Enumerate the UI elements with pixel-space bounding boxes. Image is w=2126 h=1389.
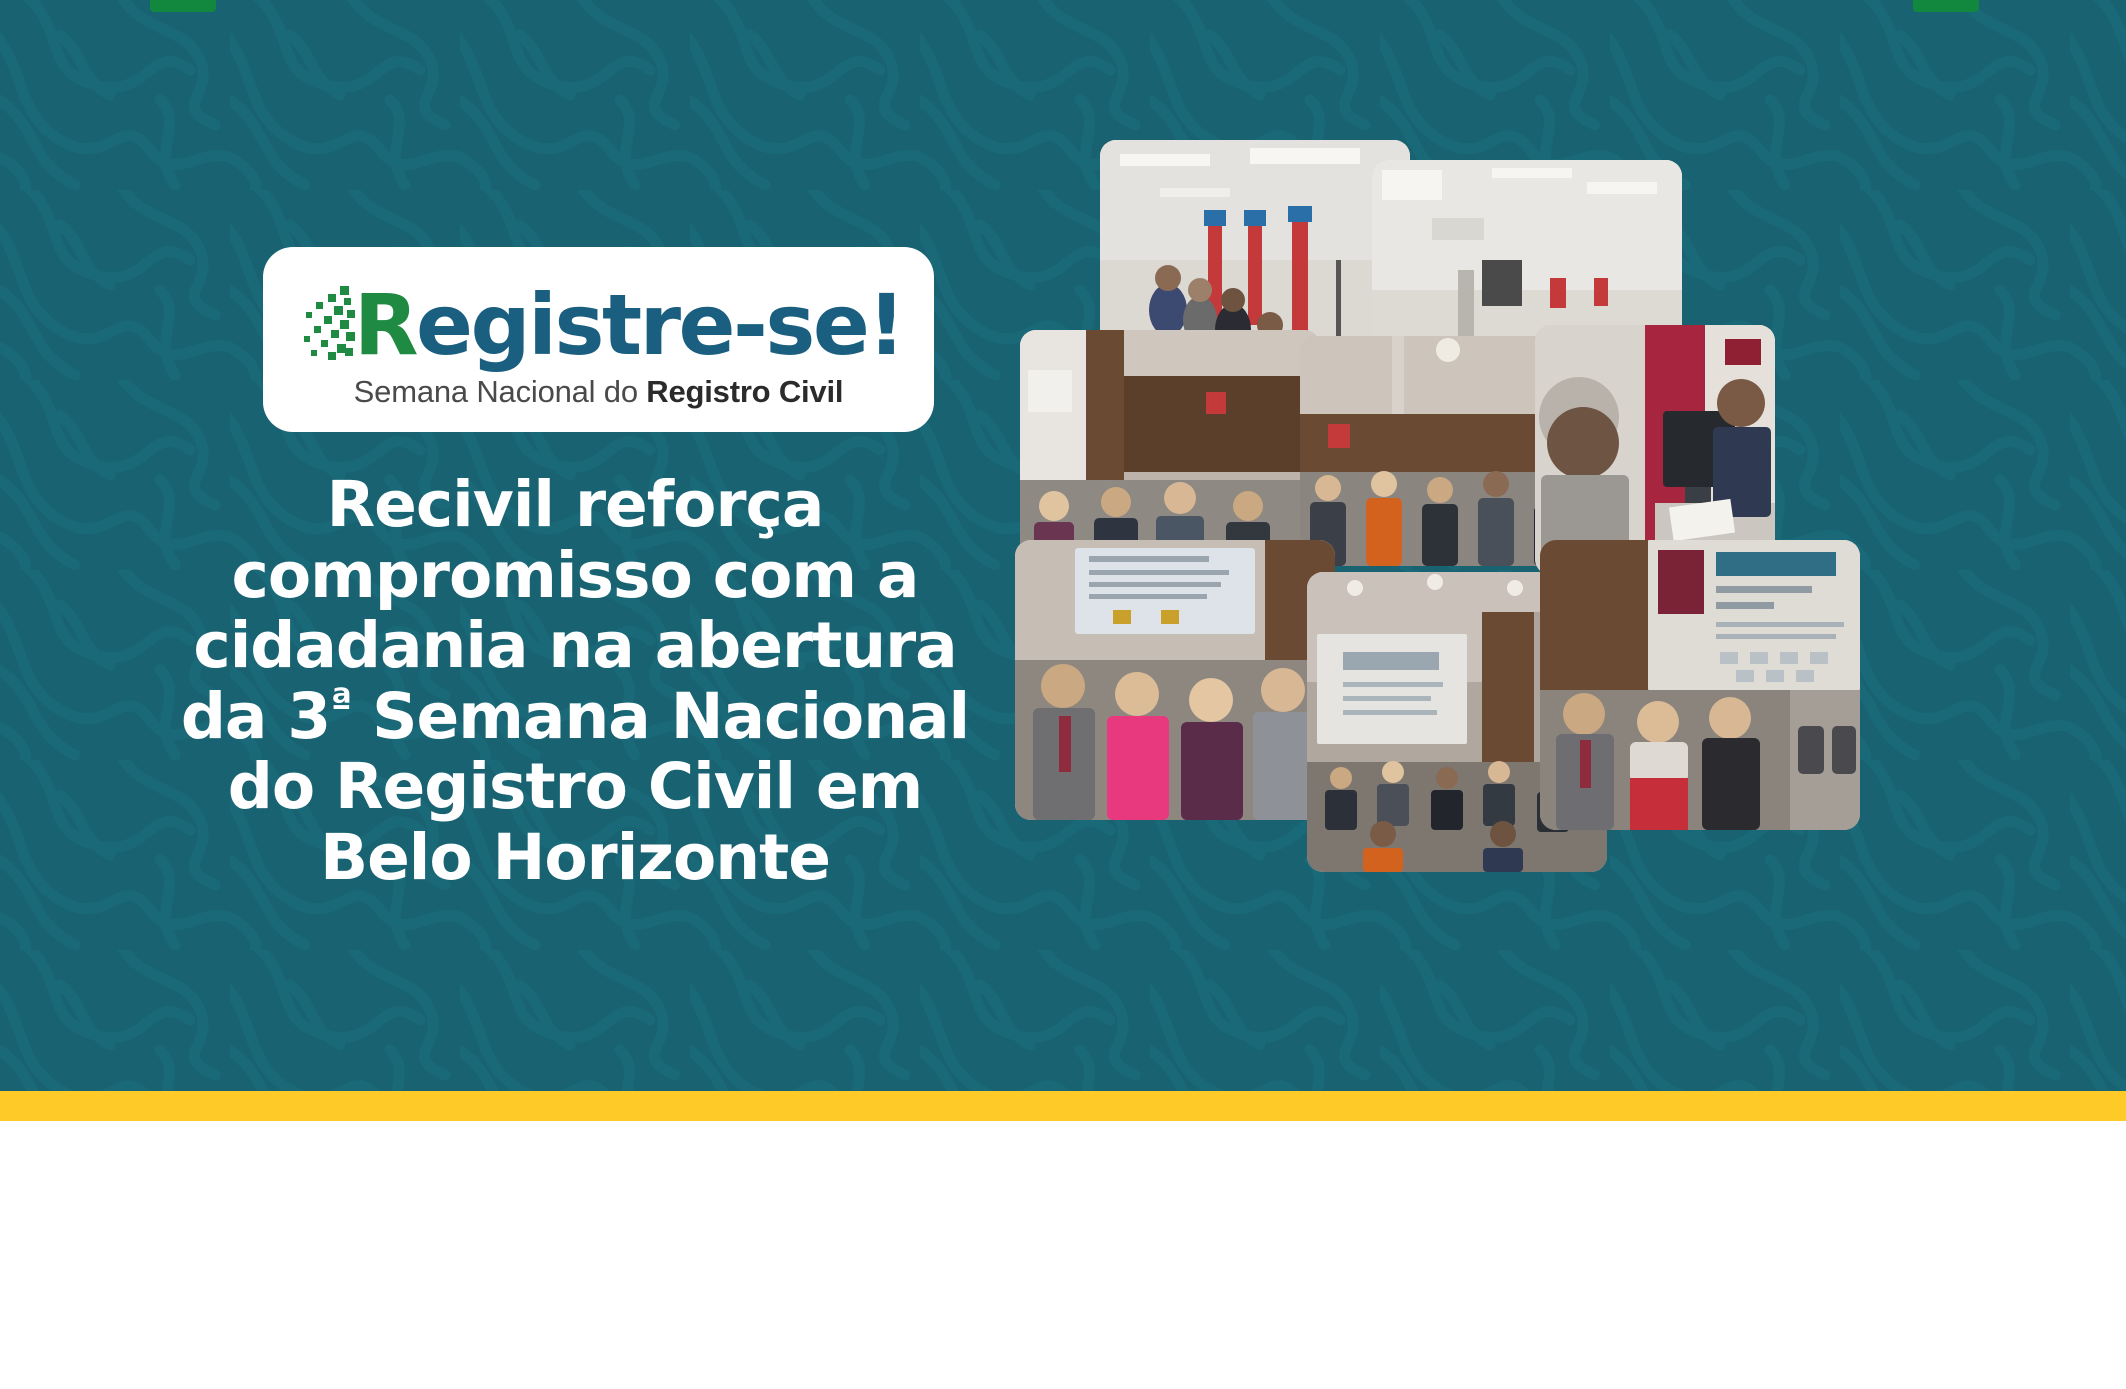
headline-line-2: compromisso com a bbox=[232, 539, 919, 612]
collage-photo-foto-oficial-banner bbox=[1540, 540, 1860, 830]
footer-logos-bar: APOIO: REALIZAÇÃO: RECIVIL SINDICATO DOS… bbox=[0, 1121, 2126, 1389]
headline-line-1: Recivil reforça bbox=[327, 468, 824, 541]
green-tab-left bbox=[150, 0, 216, 12]
photo-collage bbox=[1100, 140, 2000, 1000]
green-tab-right bbox=[1913, 0, 1979, 12]
logo-letter-r: R bbox=[354, 276, 416, 374]
headline-line-4-post: Semana Nacional bbox=[351, 680, 969, 753]
headline-line-3: cidadania na abertura bbox=[193, 609, 956, 682]
pixel-dissolve-icon bbox=[300, 282, 360, 362]
headline-line-6: Belo Horizonte bbox=[320, 821, 830, 894]
hero-banner: Registre-se! Semana Nacional do Registro… bbox=[0, 0, 2126, 1091]
logo-subtitle-light: Semana Nacional do bbox=[354, 374, 647, 409]
collage-photo-atendimento-balcao bbox=[1535, 325, 1775, 575]
collage-photo-grupo-participantes bbox=[1015, 540, 1335, 820]
headline-line-5: do Registro Civil em bbox=[228, 750, 923, 823]
headline-line-4-pre: da 3 bbox=[181, 680, 330, 753]
headline-ordinal: ª bbox=[330, 681, 351, 726]
logo-wordmark-rest: egistre-se! bbox=[416, 276, 903, 374]
logo-subtitle: Semana Nacional do Registro Civil bbox=[354, 374, 844, 410]
yellow-divider-bar bbox=[0, 1091, 2126, 1121]
registre-se-wordmark: Registre-se! bbox=[300, 270, 903, 362]
logo-subtitle-bold: Registro Civil bbox=[646, 374, 843, 409]
page-title: Recivil reforça compromisso com a cidada… bbox=[150, 470, 1000, 893]
collage-photo-mesa-autoridades bbox=[1020, 330, 1320, 560]
registre-se-logo-card: Registre-se! Semana Nacional do Registro… bbox=[263, 247, 934, 432]
